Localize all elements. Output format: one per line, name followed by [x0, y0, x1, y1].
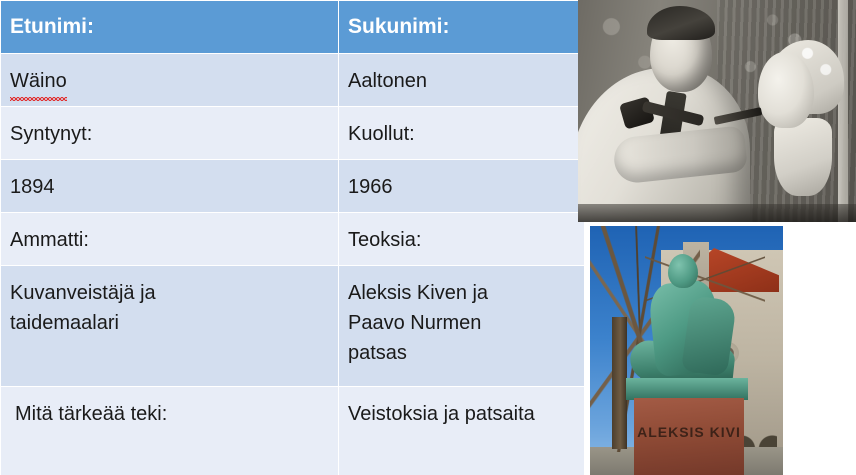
- table-header-row: Etunimi: Sukunimi:: [1, 1, 585, 54]
- table-row: Syntynyt: Kuollut:: [1, 107, 585, 160]
- profession-value-line-1: Kuvanveistäjä ja: [10, 278, 338, 308]
- table-row: Mitä tärkeää teki: Veistoksia ja patsait…: [1, 387, 585, 475]
- table-row: 1894 1966: [1, 160, 585, 213]
- died-year: 1966: [339, 160, 584, 202]
- cell-works-value[interactable]: Aleksis Kiven ja Paavo Nurmen patsas: [339, 266, 585, 387]
- works-value-line-3: patsas: [348, 338, 584, 368]
- importance-label: Mitä tärkeää teki:: [1, 387, 338, 429]
- works-value-line-1: Aleksis Kiven ja: [348, 278, 584, 308]
- table-header-cell-firstname[interactable]: Etunimi:: [1, 1, 339, 54]
- marble-bust-head: [758, 52, 814, 128]
- sculptor-carving-bust-photo[interactable]: [578, 0, 856, 222]
- born-year: 1894: [1, 160, 338, 202]
- cell-profession-label[interactable]: Ammatti:: [1, 213, 339, 266]
- granite-pedestal: ALEKSIS KIVI: [634, 398, 744, 475]
- works-value: Aleksis Kiven ja Paavo Nurmen patsas: [339, 266, 584, 368]
- table-header-cell-lastname[interactable]: Sukunimi:: [339, 1, 585, 54]
- cell-lastname-value[interactable]: Aaltonen: [339, 54, 585, 107]
- cell-importance-value[interactable]: Veistoksia ja patsaita: [339, 387, 585, 475]
- table-row: Kuvanveistäjä ja taidemaalari Aleksis Ki…: [1, 266, 585, 387]
- profession-label: Ammatti:: [1, 213, 338, 255]
- cell-born-label[interactable]: Syntynyt:: [1, 107, 339, 160]
- cell-died-label[interactable]: Kuollut:: [339, 107, 585, 160]
- cell-died-value[interactable]: 1966: [339, 160, 585, 213]
- photo-frame-edge: [838, 0, 848, 222]
- pedestal-inscription: ALEKSIS KIVI: [634, 424, 744, 440]
- misspelled-word: Wäino: [10, 66, 67, 96]
- born-label: Syntynyt:: [1, 107, 338, 149]
- table-row: Wäino Aaltonen: [1, 54, 585, 107]
- aleksis-kivi-statue-photo[interactable]: ALEKSIS KIVI: [590, 226, 783, 475]
- header-label-firstname: Etunimi:: [1, 1, 338, 42]
- tree-trunk: [612, 317, 627, 449]
- workbench-edge: [578, 204, 856, 222]
- statue-head: [668, 254, 698, 288]
- lastname-value: Aaltonen: [339, 54, 584, 96]
- profession-value-line-2: taidemaalari: [10, 308, 338, 338]
- cell-born-value[interactable]: 1894: [1, 160, 339, 213]
- cell-works-label[interactable]: Teoksia:: [339, 213, 585, 266]
- marble-bust-neck: [774, 118, 832, 196]
- person-info-table: Etunimi: Sukunimi: Wäino Aaltonen: [0, 0, 585, 475]
- works-label: Teoksia:: [339, 213, 584, 255]
- statue-bronze-base: [626, 378, 748, 400]
- firstname-value-wrapper: Wäino: [1, 54, 338, 96]
- importance-value: Veistoksia ja patsaita: [339, 387, 584, 429]
- cell-firstname-value[interactable]: Wäino: [1, 54, 339, 107]
- cell-importance-label[interactable]: Mitä tärkeää teki:: [1, 387, 339, 475]
- header-label-lastname: Sukunimi:: [339, 1, 584, 42]
- profession-value: Kuvanveistäjä ja taidemaalari: [1, 266, 338, 338]
- works-value-line-2: Paavo Nurmen: [348, 308, 584, 338]
- died-label: Kuollut:: [339, 107, 584, 149]
- table-row: Ammatti: Teoksia:: [1, 213, 585, 266]
- slide-canvas: Etunimi: Sukunimi: Wäino Aaltonen: [0, 0, 856, 475]
- cell-profession-value[interactable]: Kuvanveistäjä ja taidemaalari: [1, 266, 339, 387]
